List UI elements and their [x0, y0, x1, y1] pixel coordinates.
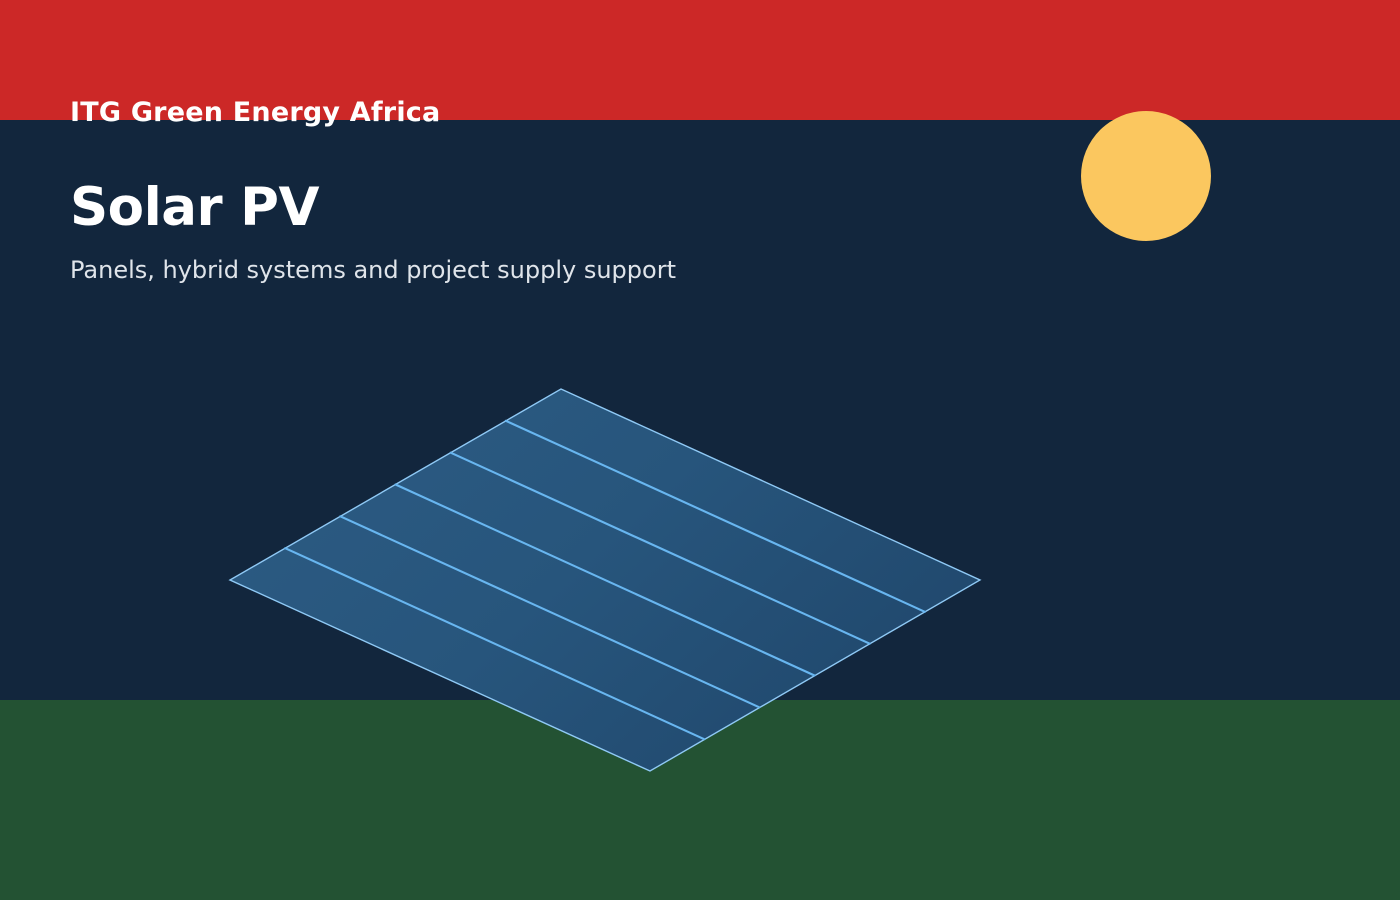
- brand-name: ITG Green Energy Africa: [70, 99, 440, 126]
- page-title: Solar PV: [70, 181, 319, 234]
- solar-panel-array-icon: [0, 0, 1400, 900]
- page-subtitle: Panels, hybrid systems and project suppl…: [70, 257, 676, 283]
- hero-banner: ITG Green Energy Africa Solar PV Panels,…: [0, 0, 1400, 900]
